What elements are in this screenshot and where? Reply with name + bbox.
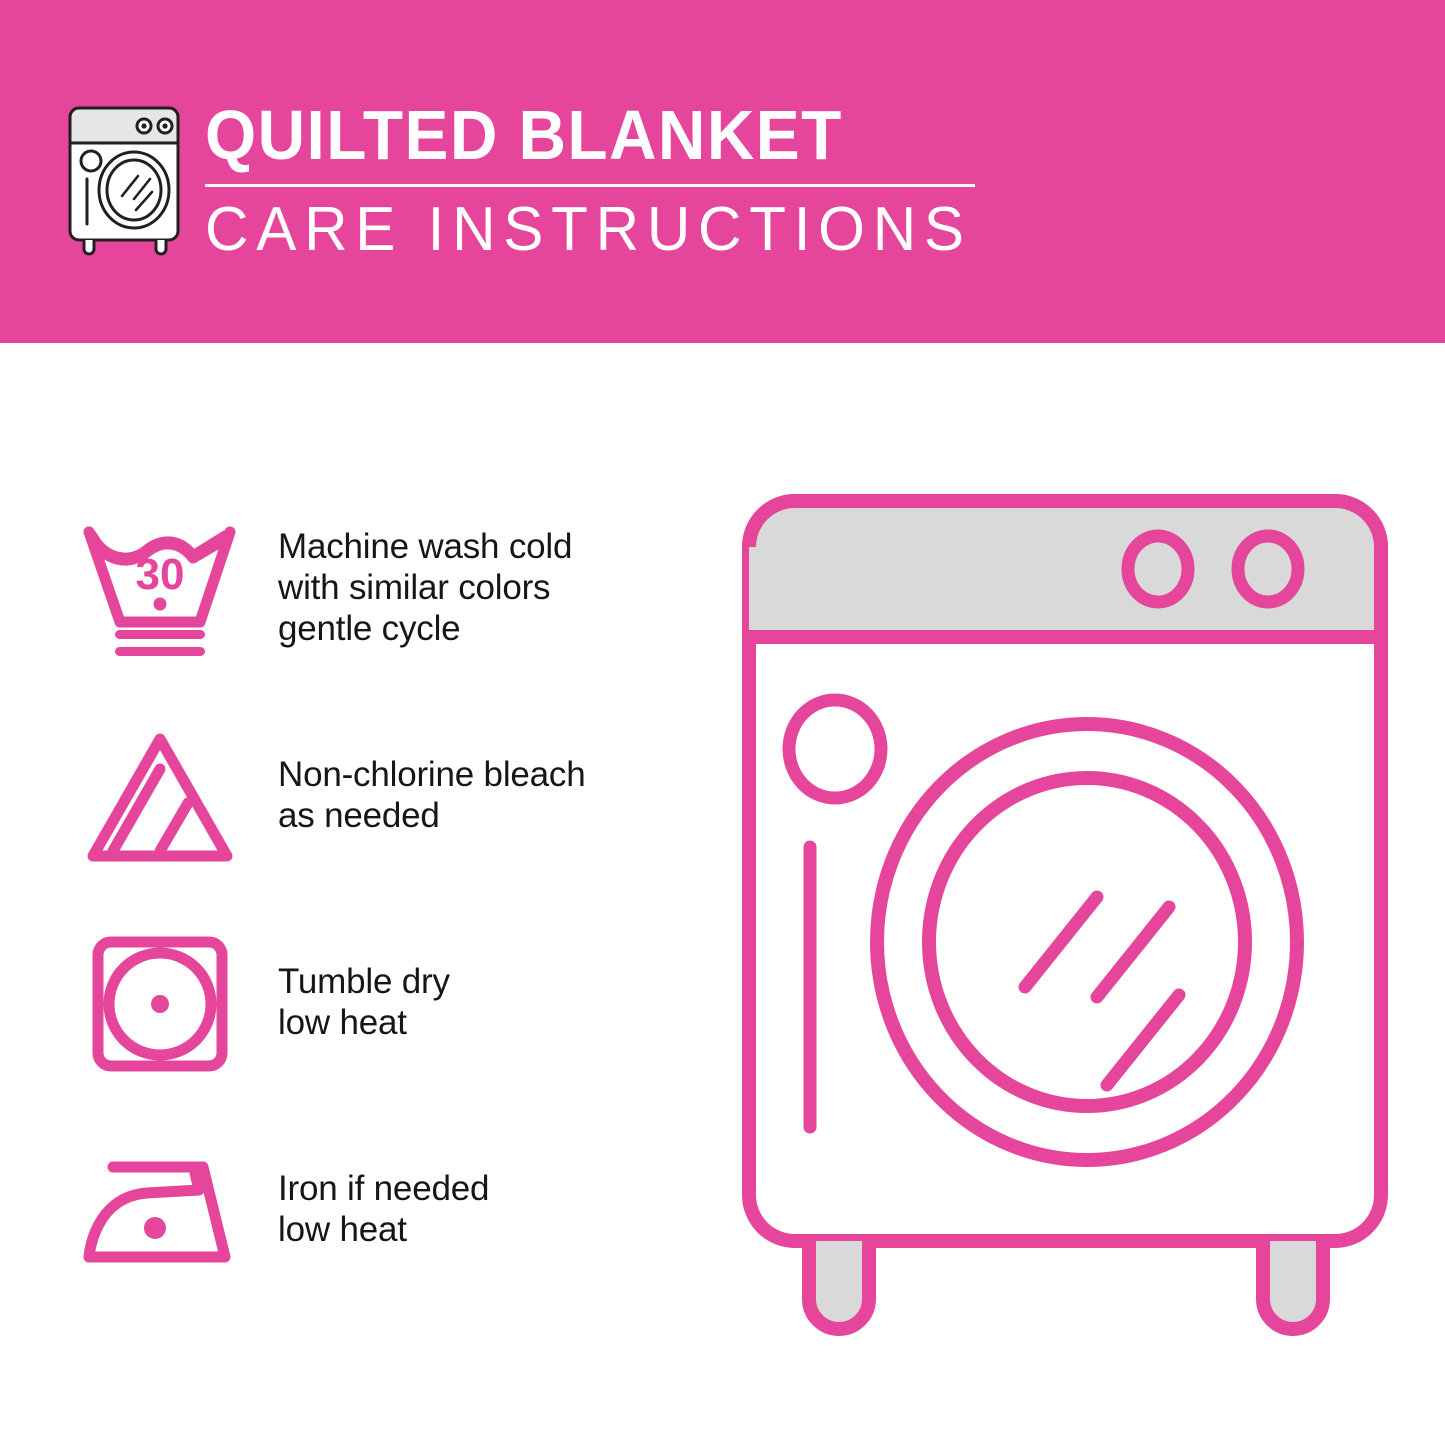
care-label-line: Iron if needed <box>278 1169 700 1210</box>
care-instructions-infographic: QUILTED BLANKET CARE INSTRUCTIONS 30 <box>0 0 1445 1445</box>
header-title-block: QUILTED BLANKET CARE INSTRUCTIONS <box>205 100 995 261</box>
care-label-iron: Iron if needed low heat <box>260 1169 700 1251</box>
care-label-line: Machine wash cold <box>278 527 700 568</box>
care-label-line: low heat <box>278 1003 700 1044</box>
page-title: QUILTED BLANKET <box>205 100 948 170</box>
care-label-line: gentle cycle <box>278 609 700 650</box>
title-divider <box>205 184 975 187</box>
header-banner: QUILTED BLANKET CARE INSTRUCTIONS <box>0 0 1445 343</box>
washing-machine-icon <box>62 104 192 256</box>
care-row-bleach: Non-chlorine bleach as needed <box>60 692 700 899</box>
care-label-machine-wash: Machine wash cold with similar colors ge… <box>260 527 700 650</box>
care-label-line: low heat <box>278 1210 700 1251</box>
care-label-line: Non-chlorine bleach <box>278 755 700 796</box>
front-load-washing-machine-illustration <box>735 487 1395 1357</box>
care-label-line: with similar colors <box>278 568 700 609</box>
page-subtitle: CARE INSTRUCTIONS <box>205 199 971 261</box>
iron-low-icon <box>60 1130 260 1290</box>
wash-temperature-value: 30 <box>136 550 185 599</box>
care-label-bleach: Non-chlorine bleach as needed <box>260 755 700 837</box>
care-label-line: as needed <box>278 796 700 837</box>
non-chlorine-bleach-triangle-icon <box>60 716 260 876</box>
tumble-dry-low-icon <box>60 923 260 1083</box>
care-instruction-list: 30 Machine wash cold with similar colors… <box>60 485 700 1313</box>
wash-tub-30-gentle-icon: 30 <box>60 509 260 669</box>
care-row-machine-wash: 30 Machine wash cold with similar colors… <box>60 485 700 692</box>
care-label-line: Tumble dry <box>278 962 700 1003</box>
care-label-tumble-dry: Tumble dry low heat <box>260 962 700 1044</box>
care-row-tumble-dry: Tumble dry low heat <box>60 899 700 1106</box>
care-row-iron: Iron if needed low heat <box>60 1106 700 1313</box>
